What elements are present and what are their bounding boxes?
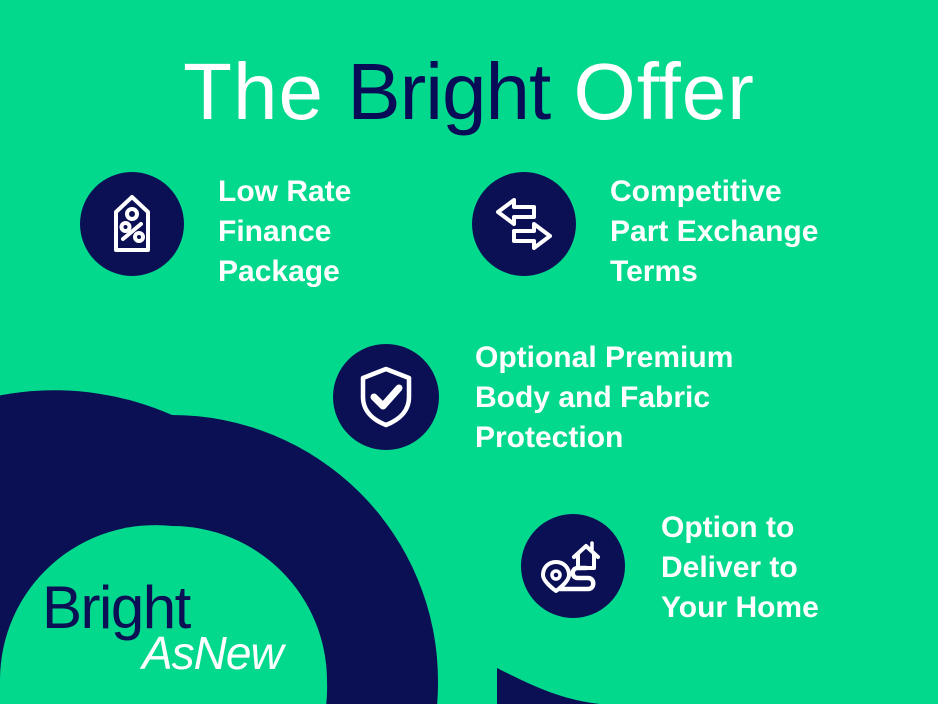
brand-logo: Bright AsNew (42, 578, 302, 688)
exchange-arrows-icon (492, 194, 556, 254)
feature-body-fabric-protection: Optional Premium Body and Fabric Protect… (333, 344, 733, 458)
title-brand-word: Bright (347, 47, 550, 136)
feature-label: Optional Premium Body and Fabric Protect… (475, 338, 733, 458)
feature-label: Competitive Part Exchange Terms (610, 172, 818, 292)
feature-label: Option to Deliver to Your Home (661, 508, 819, 628)
feature-low-rate-finance: Low Rate Finance Package (80, 172, 351, 292)
feature-home-delivery: Option to Deliver to Your Home (521, 514, 819, 628)
feature-icon-badge (80, 172, 184, 276)
page-title: The Bright Offer (0, 44, 938, 140)
price-tag-percent-icon (102, 193, 162, 255)
feature-label: Low Rate Finance Package (218, 172, 351, 292)
title-suffix: Offer (550, 47, 755, 136)
feature-part-exchange: Competitive Part Exchange Terms (472, 172, 818, 292)
navy-wedge-shape (497, 668, 600, 704)
feature-icon-badge (333, 344, 439, 450)
feature-icon-badge (521, 514, 625, 618)
logo-secondary-text: AsNew (142, 630, 283, 676)
promo-poster: The Bright Offer Low Rate Finance Packag… (0, 0, 938, 704)
title-prefix: The (183, 47, 347, 136)
map-pin-road-house-icon (540, 535, 606, 597)
feature-icon-badge (472, 172, 576, 276)
shield-check-icon (356, 365, 416, 429)
